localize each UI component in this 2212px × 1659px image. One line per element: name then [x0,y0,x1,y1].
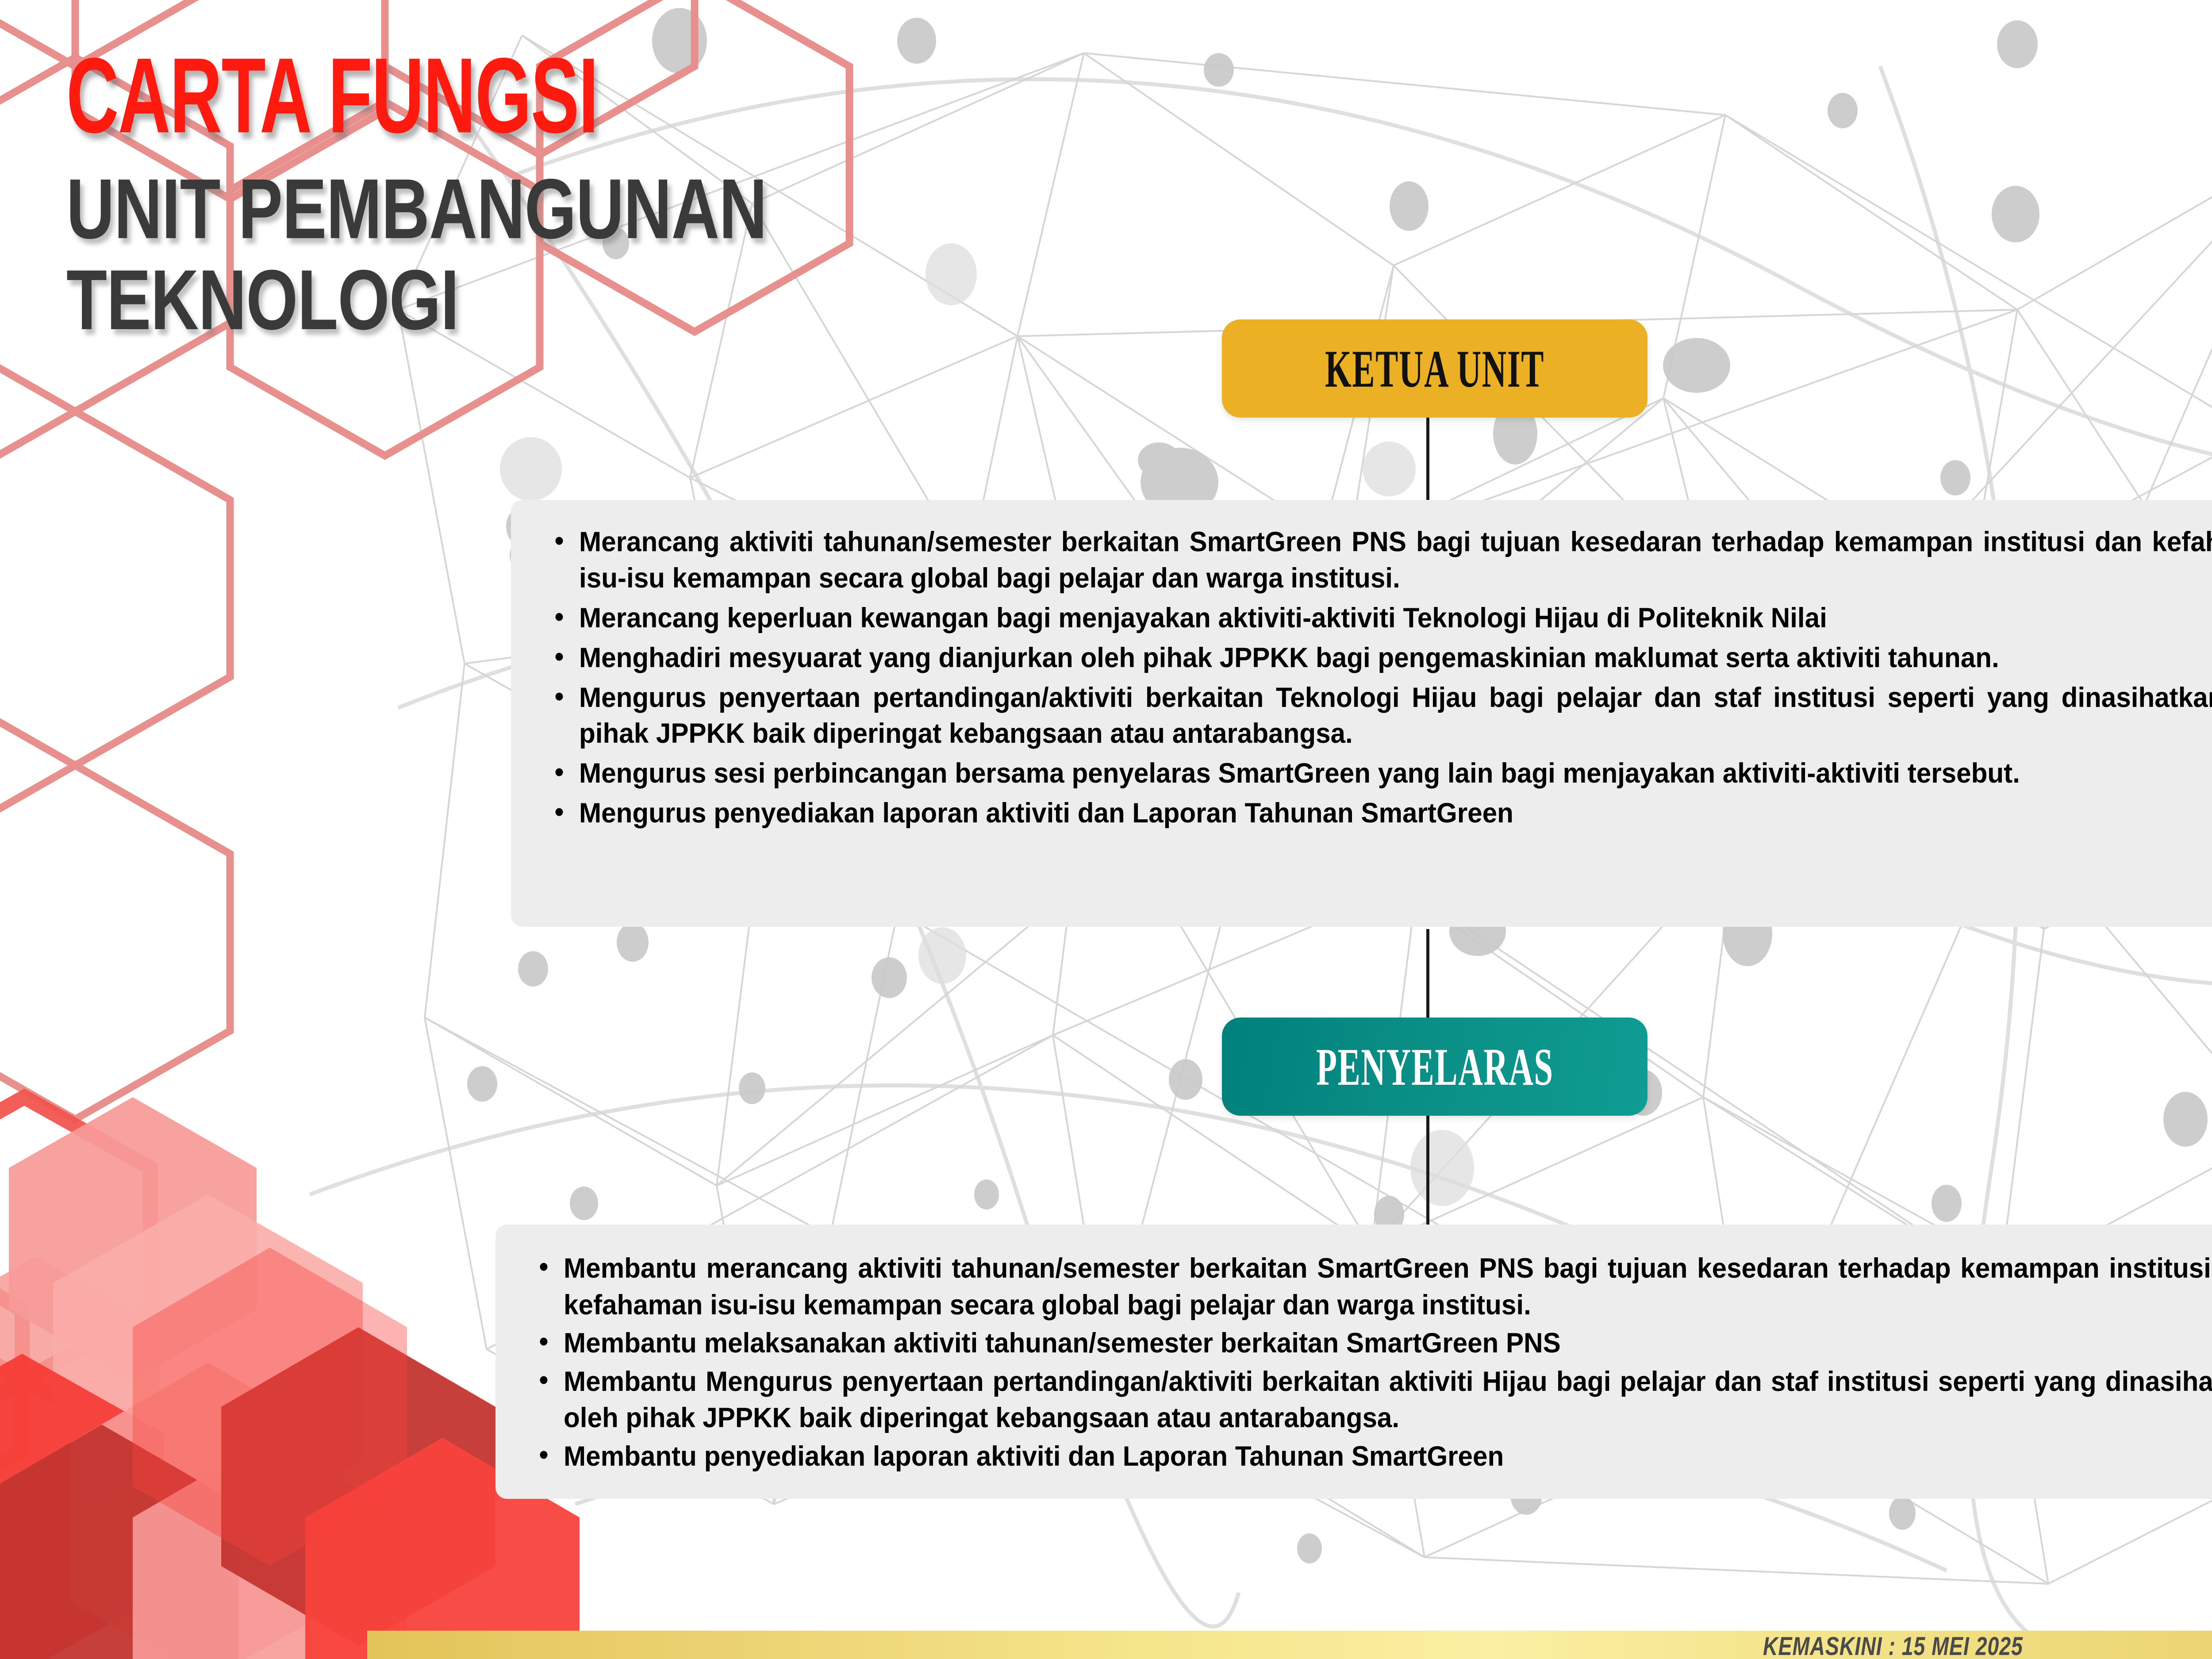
list-item: Mengurus penyediakan laporan aktiviti da… [542,795,2212,832]
node-ketua-unit[interactable]: KETUA UNIT [1222,319,1647,418]
node-penyelaras-label: PENYELARAS [1316,1036,1554,1098]
duty-list-penyelaras: Membantu merancang aktiviti tahunan/seme… [526,1250,2212,1475]
duties-panel-penyelaras: Membantu merancang aktiviti tahunan/seme… [495,1225,2212,1499]
connector-line-bottom [1426,1116,1429,1229]
duty-list-ketua-unit: Merancang aktiviti tahunan/semester berk… [542,524,2212,832]
slide-canvas: CARTA FUNGSI UNIT PEMBANGUNAN TEKNOLOGI … [0,0,2212,1659]
list-item: Menghadiri mesyuarat yang dianjurkan ole… [542,640,2212,676]
list-item: Merancang keperluan kewangan bagi menjay… [542,600,2212,637]
list-item: Mengurus penyertaan pertandingan/aktivit… [542,680,2212,753]
page-subtitle: UNIT PEMBANGUNAN TEKNOLOGI [66,164,979,346]
list-item: Mengurus sesi perbincangan bersama penye… [542,756,2212,792]
title-block: CARTA FUNGSI UNIT PEMBANGUNAN TEKNOLOGI [66,42,1128,330]
list-item: Merancang aktiviti tahunan/semester berk… [542,524,2212,597]
connector-line-top [1426,418,1429,506]
duties-panel-ketua-unit: Merancang aktiviti tahunan/semester berk… [511,500,2212,927]
list-item: Membantu Mengurus penyertaan pertandinga… [526,1363,2212,1436]
node-ketua-unit-label: KETUA UNIT [1325,338,1544,399]
list-item: Membantu penyediakan laporan aktiviti da… [526,1438,2212,1475]
last-updated-text: KEMASKINI : 15 MEI 2025 [1763,1632,2023,1659]
list-item: Membantu melaksanakan aktiviti tahunan/s… [526,1325,2212,1362]
connector-line-middle [1426,929,1429,1020]
page-title: CARTA FUNGSI [66,42,916,149]
node-penyelaras[interactable]: PENYELARAS [1222,1018,1647,1116]
list-item: Membantu merancang aktiviti tahunan/seme… [526,1250,2212,1323]
